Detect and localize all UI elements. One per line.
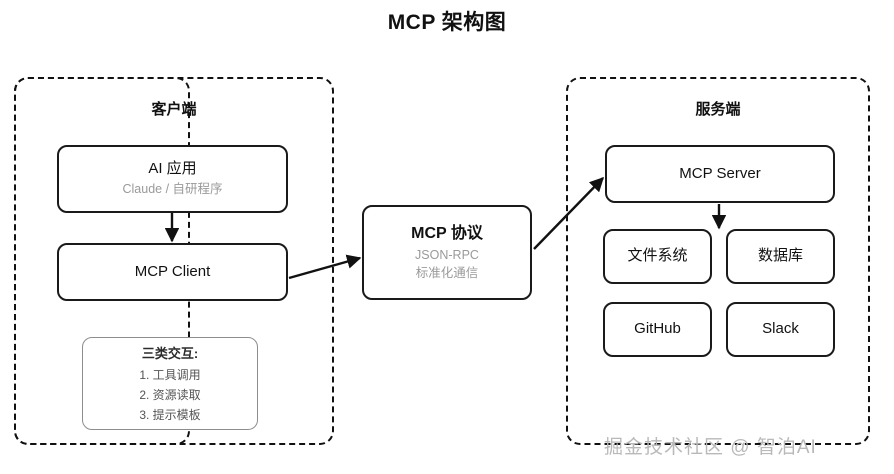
mcp-protocol-title: MCP 协议 [411,224,483,244]
resource-box-filesystem[interactable]: 文件系统 [603,229,712,284]
resource-box-database[interactable]: 数据库 [726,229,835,284]
resource-box-github[interactable]: GitHub [603,302,712,357]
resource-label: Slack [762,320,799,339]
note-title: 三类交互: [142,343,198,362]
three-interactions-note: 三类交互: 1. 工具调用 2. 资源读取 3. 提示模板 [82,337,258,430]
mcp-client-title: MCP Client [135,263,211,282]
mcp-server-box[interactable]: MCP Server [605,145,835,203]
mcp-server-title: MCP Server [679,165,760,184]
client-group-label: 客户端 [14,98,334,119]
server-group-label: 服务端 [566,98,870,119]
ai-application-subtitle: Claude / 自研程序 [122,181,222,198]
resource-label: GitHub [634,320,681,339]
ai-application-title: AI 应用 [148,160,196,179]
mcp-protocol-subtitle-1: JSON-RPC [415,247,479,264]
page-title: MCP 架构图 [0,6,894,36]
mcp-protocol-subtitle-2: 标准化通信 [416,265,479,282]
mcp-client-box[interactable]: MCP Client [57,243,288,301]
mcp-protocol-box[interactable]: MCP 协议 JSON-RPC 标准化通信 [362,205,532,300]
resource-box-slack[interactable]: Slack [726,302,835,357]
ai-application-box[interactable]: AI 应用 Claude / 自研程序 [57,145,288,213]
resource-label: 数据库 [758,247,803,266]
watermark: 掘金技术社区 @ 智泊AI [604,432,890,459]
note-item: 3. 提示模板 [139,406,200,426]
note-item: 2. 资源读取 [139,386,200,406]
diagram-canvas: MCP 架构图 客户端 AI 应用 Claude / 自研程序 MCP Clie… [0,0,894,474]
resource-label: 文件系统 [627,247,687,266]
note-item: 1. 工具调用 [139,366,200,386]
